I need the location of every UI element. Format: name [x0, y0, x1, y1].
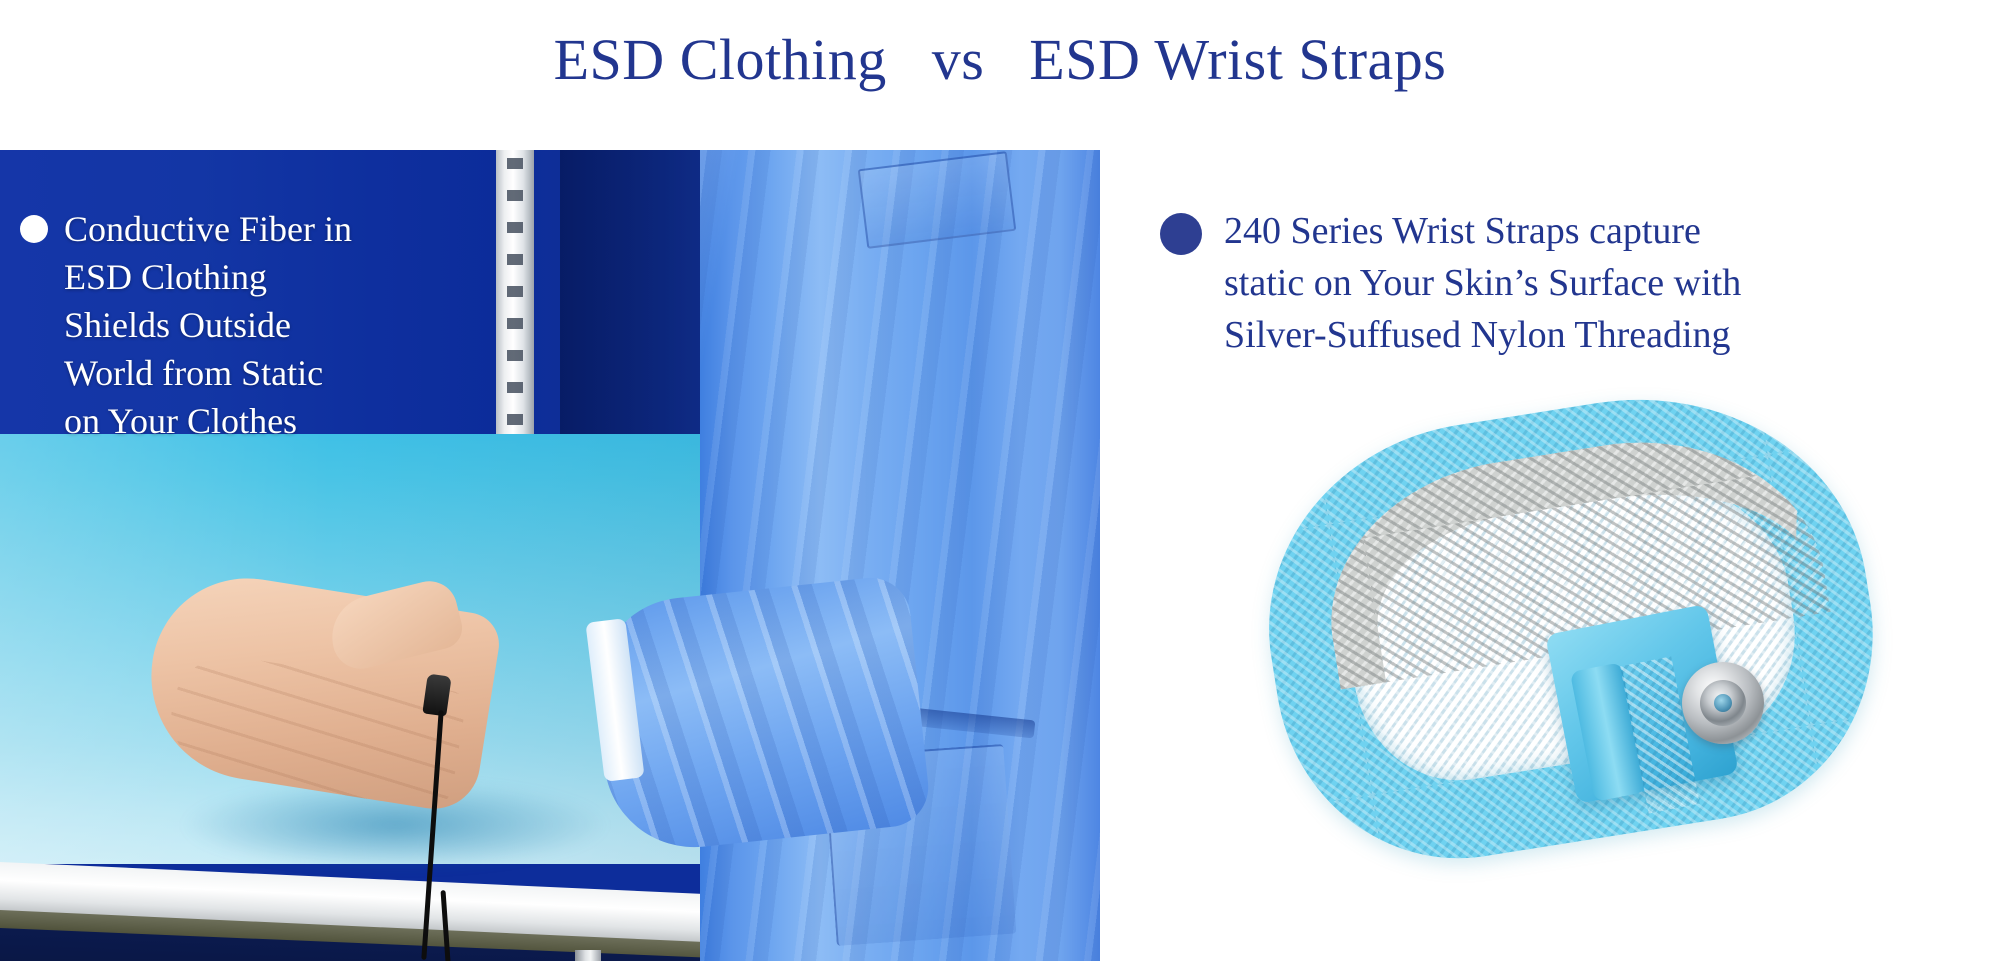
- bench-support-leg: [575, 950, 601, 961]
- shelf-slot-pattern: [507, 158, 523, 476]
- sleeve-creases: [588, 574, 932, 856]
- left-bullet-lines: Conductive Fiber in ESD Clothing Shields…: [64, 205, 352, 445]
- left-bullet-block: Conductive Fiber in ESD Clothing Shields…: [20, 205, 450, 445]
- left-bullet-line-1: Conductive Fiber in: [64, 205, 352, 253]
- right-bullet-lines: 240 Series Wrist Straps capture static o…: [1224, 205, 1741, 361]
- right-bullet-block: 240 Series Wrist Straps capture static o…: [1160, 205, 1960, 361]
- left-bullet-line-5: on Your Clothes: [64, 397, 352, 445]
- filled-circle-bullet-icon: [1160, 213, 1202, 255]
- right-bullet-line-3: Silver-Suffused Nylon Threading: [1224, 309, 1741, 361]
- wrist-strap-photo: [1230, 380, 1930, 910]
- wrist-strap-snap-center: [1714, 694, 1732, 712]
- left-bullet-line-2: ESD Clothing: [64, 253, 352, 301]
- slide-canvas: ESD Clothing vs ESD Wrist Straps: [0, 0, 2000, 961]
- filled-circle-bullet-icon: [20, 215, 48, 243]
- right-bullet-line-1: 240 Series Wrist Straps capture: [1224, 205, 1741, 257]
- left-bullet-line-4: World from Static: [64, 349, 352, 397]
- page-title: ESD Clothing vs ESD Wrist Straps: [0, 26, 2000, 93]
- right-bullet-line-2: static on Your Skin’s Surface with: [1224, 257, 1741, 309]
- left-bullet-line-3: Shields Outside: [64, 301, 352, 349]
